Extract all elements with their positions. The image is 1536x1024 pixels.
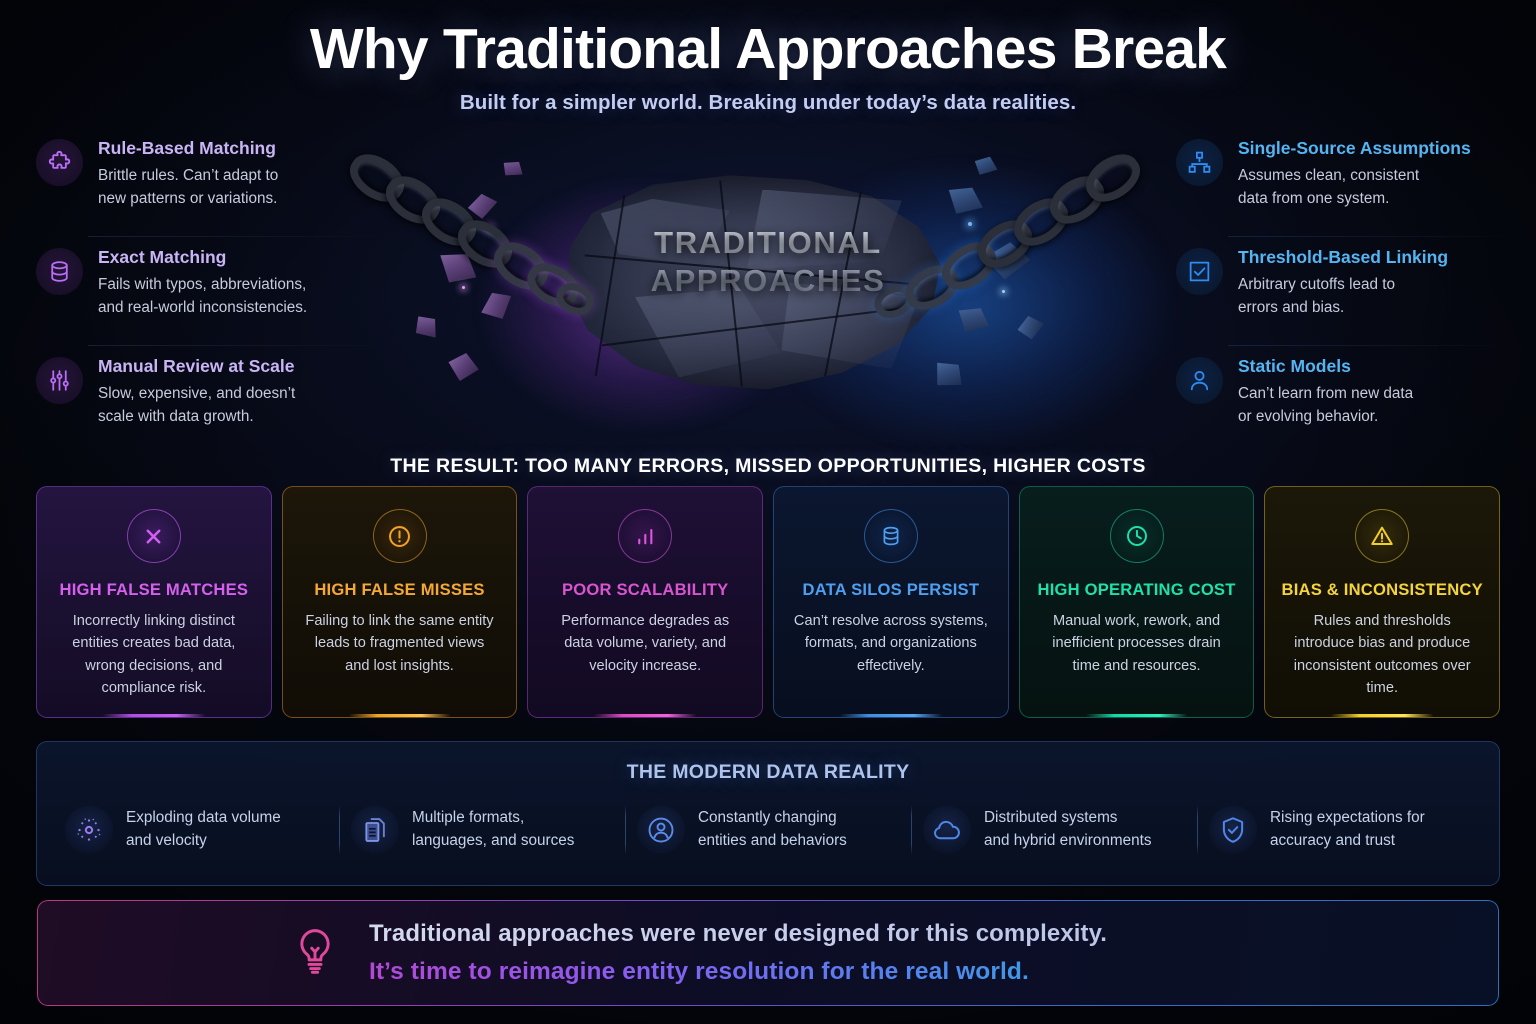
feature-title: Single-Source Assumptions bbox=[1238, 138, 1471, 160]
card-accent-bar bbox=[348, 714, 451, 717]
reality-item-line1: Multiple formats, bbox=[412, 807, 574, 830]
feature-desc-line1: Assumes clean, consistent bbox=[1238, 165, 1471, 188]
feature-rule-based-matching[interactable]: Rule-Based Matching Brittle rules. Can’t… bbox=[36, 133, 384, 242]
hero-label-line2: APPROACHES bbox=[300, 262, 1236, 300]
feature-desc-line2: scale with data growth. bbox=[98, 406, 295, 429]
result-card-data-silos-persist[interactable]: DATA SILOS PERSIST Can’t resolve across … bbox=[773, 486, 1009, 718]
feature-desc-line1: Brittle rules. Can’t adapt to bbox=[98, 165, 278, 188]
reality-item-line2: accuracy and trust bbox=[1270, 830, 1425, 853]
callout-line2: It’s time to reimagine entity resolution… bbox=[369, 956, 1107, 988]
feature-desc-line2: and real-world inconsistencies. bbox=[98, 297, 307, 320]
checkbox-check-icon bbox=[1176, 248, 1223, 295]
reality-item-multiple-formats[interactable]: Multiple formats, languages, and sources bbox=[339, 802, 625, 858]
reality-item-line2: languages, and sources bbox=[412, 830, 574, 853]
sliders-icon bbox=[36, 357, 83, 404]
header: Why Traditional Approaches Break Built f… bbox=[0, 0, 1536, 115]
reality-item-line2: and hybrid environments bbox=[984, 830, 1152, 853]
reality-item-line2: entities and behaviors bbox=[698, 830, 847, 853]
burst-icon bbox=[65, 806, 113, 854]
card-title: BIAS & INCONSISTENCY bbox=[1280, 580, 1484, 600]
cloud-icon bbox=[923, 806, 971, 854]
callout-banner: Traditional approaches were never design… bbox=[36, 899, 1500, 1007]
feature-desc-line2: errors and bias. bbox=[1238, 297, 1448, 320]
hero-label-line1: TRADITIONAL bbox=[300, 224, 1236, 262]
feature-desc-line1: Slow, expensive, and doesn’t bbox=[98, 383, 295, 406]
warning-triangle-icon bbox=[1355, 509, 1409, 563]
database-icon bbox=[864, 509, 918, 563]
card-accent-bar bbox=[102, 714, 205, 717]
reality-item-row: Exploding data volume and velocity Multi… bbox=[37, 802, 1499, 858]
result-card-bias-and-inconsistency[interactable]: BIAS & INCONSISTENCY Rules and threshold… bbox=[1264, 486, 1500, 718]
hierarchy-icon bbox=[1176, 139, 1223, 186]
reality-item-line1: Distributed systems bbox=[984, 807, 1152, 830]
feature-single-source-assumptions[interactable]: Single-Source Assumptions Assumes clean,… bbox=[1176, 133, 1508, 242]
card-accent-bar bbox=[594, 714, 697, 717]
database-icon bbox=[36, 248, 83, 295]
reality-item-line1: Exploding data volume bbox=[126, 807, 281, 830]
feature-exact-matching[interactable]: Exact Matching Fails with typos, abbrevi… bbox=[36, 242, 384, 351]
feature-title: Threshold-Based Linking bbox=[1238, 247, 1448, 269]
feature-static-models[interactable]: Static Models Can’t learn from new data … bbox=[1176, 351, 1508, 460]
feature-threshold-based-linking[interactable]: Threshold-Based Linking Arbitrary cutoff… bbox=[1176, 242, 1508, 351]
bar-chart-icon bbox=[618, 509, 672, 563]
card-accent-bar bbox=[1331, 714, 1434, 717]
result-card-grid: HIGH FALSE MATCHES Incorrectly linking d… bbox=[36, 486, 1500, 718]
card-desc: Incorrectly linking distinct entities cr… bbox=[52, 610, 256, 699]
person-circle-icon bbox=[637, 806, 685, 854]
result-heading: THE RESULT: TOO MANY ERRORS, MISSED OPPO… bbox=[0, 455, 1536, 478]
callout-text: Traditional approaches were never design… bbox=[369, 918, 1107, 988]
feature-title: Exact Matching bbox=[98, 247, 307, 269]
feature-desc-line1: Can’t learn from new data bbox=[1238, 383, 1413, 406]
feature-desc-line2: data from one system. bbox=[1238, 188, 1471, 211]
hero-label: TRADITIONAL APPROACHES bbox=[300, 224, 1236, 300]
shield-check-icon bbox=[1209, 806, 1257, 854]
feature-desc-line2: or evolving behavior. bbox=[1238, 406, 1413, 429]
modern-data-reality-panel: THE MODERN DATA REALITY bbox=[36, 741, 1500, 886]
lightbulb-icon bbox=[289, 925, 341, 982]
puzzle-piece-icon bbox=[36, 139, 83, 186]
card-title: HIGH FALSE MATCHES bbox=[52, 580, 256, 600]
reality-item-distributed-systems[interactable]: Distributed systems and hybrid environme… bbox=[911, 802, 1197, 858]
reality-item-exploding-data-volume[interactable]: Exploding data volume and velocity bbox=[53, 802, 339, 858]
card-title: POOR SCALABILITY bbox=[543, 580, 747, 600]
card-title: HIGH OPERATING COST bbox=[1035, 580, 1239, 600]
page-title: Why Traditional Approaches Break bbox=[0, 18, 1536, 82]
feature-title: Manual Review at Scale bbox=[98, 356, 295, 378]
result-card-high-false-misses[interactable]: HIGH FALSE MISSES Failing to link the sa… bbox=[282, 486, 518, 718]
x-circle-icon bbox=[127, 509, 181, 563]
page-subtitle: Built for a simpler world. Breaking unde… bbox=[0, 91, 1536, 115]
card-desc: Performance degrades as data volume, var… bbox=[543, 610, 747, 677]
feature-title: Static Models bbox=[1238, 356, 1413, 378]
result-card-high-false-matches[interactable]: HIGH FALSE MATCHES Incorrectly linking d… bbox=[36, 486, 272, 718]
exclamation-circle-icon bbox=[373, 509, 427, 563]
clock-icon bbox=[1110, 509, 1164, 563]
feature-desc-line1: Fails with typos, abbreviations, bbox=[98, 274, 307, 297]
result-card-high-operating-cost[interactable]: HIGH OPERATING COST Manual work, rework,… bbox=[1019, 486, 1255, 718]
feature-desc-line2: new patterns or variations. bbox=[98, 188, 278, 211]
reality-item-line2: and velocity bbox=[126, 830, 281, 853]
hero-illustration: TRADITIONAL APPROACHES bbox=[300, 120, 1236, 450]
reality-item-line1: Rising expectations for bbox=[1270, 807, 1425, 830]
card-title: HIGH FALSE MISSES bbox=[298, 580, 502, 600]
reality-item-line1: Constantly changing bbox=[698, 807, 847, 830]
reality-item-rising-expectations[interactable]: Rising expectations for accuracy and tru… bbox=[1197, 802, 1483, 858]
card-desc: Failing to link the same entity leads to… bbox=[298, 610, 502, 677]
card-accent-bar bbox=[839, 714, 942, 717]
card-desc: Manual work, rework, and inefficient pro… bbox=[1035, 610, 1239, 677]
card-accent-bar bbox=[1085, 714, 1188, 717]
person-icon bbox=[1176, 357, 1223, 404]
reality-item-constantly-changing[interactable]: Constantly changing entities and behavio… bbox=[625, 802, 911, 858]
feature-manual-review-at-scale[interactable]: Manual Review at Scale Slow, expensive, … bbox=[36, 351, 384, 460]
feature-title: Rule-Based Matching bbox=[98, 138, 278, 160]
result-card-poor-scalability[interactable]: POOR SCALABILITY Performance degrades as… bbox=[527, 486, 763, 718]
card-title: DATA SILOS PERSIST bbox=[789, 580, 993, 600]
card-desc: Rules and thresholds introduce bias and … bbox=[1280, 610, 1484, 699]
right-feature-list: Single-Source Assumptions Assumes clean,… bbox=[1176, 133, 1508, 460]
callout-line1: Traditional approaches were never design… bbox=[369, 918, 1107, 950]
feature-desc-line1: Arbitrary cutoffs lead to bbox=[1238, 274, 1448, 297]
documents-icon bbox=[351, 806, 399, 854]
reality-title: THE MODERN DATA REALITY bbox=[37, 761, 1499, 784]
card-desc: Can’t resolve across systems, formats, a… bbox=[789, 610, 993, 677]
left-feature-list: Rule-Based Matching Brittle rules. Can’t… bbox=[36, 133, 384, 460]
